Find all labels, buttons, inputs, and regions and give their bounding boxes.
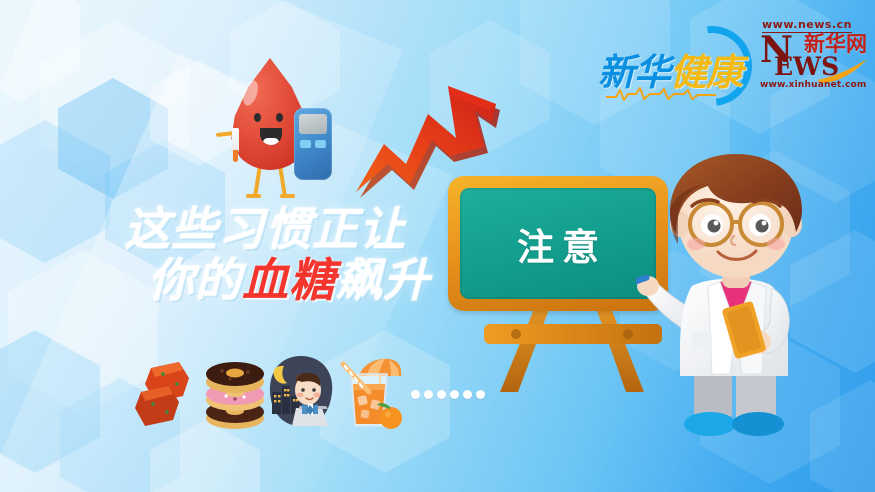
ellipsis-dots [411, 390, 485, 399]
glucose-meter-button-left [300, 140, 311, 148]
xinhuanet-logo[interactable]: www.news.cn N EWS 新华网 www.xinhuanet.com [760, 18, 868, 92]
headline-line-2: 你的血糖飙升 [148, 257, 430, 304]
blackboard-text: 注意 [509, 217, 607, 271]
blackboard-surface: 注意 [460, 188, 656, 299]
test-strip [232, 128, 239, 152]
glucose-meter-icon [294, 108, 332, 180]
mascot-foot-right [280, 194, 295, 198]
headline-line-2-suffix: 飙升 [336, 253, 430, 307]
mascot-foot-left [246, 194, 261, 198]
mascot-eye-left [254, 113, 261, 122]
test-strip-tip [233, 150, 238, 162]
braised-pork-icon [133, 352, 203, 432]
dot [411, 390, 420, 399]
dot [463, 390, 472, 399]
dot [437, 390, 446, 399]
xinhua-chinese-name: 新华网 [804, 34, 867, 55]
donut-stack-icon [200, 352, 270, 432]
sugary-drink-icon [333, 352, 403, 432]
mascot-mouth [260, 128, 282, 145]
dot [450, 390, 459, 399]
headline-highlight-blood-sugar: 血糖 [242, 253, 336, 307]
glucose-meter-screen [299, 114, 327, 134]
headline-line-2-prefix: 你的 [148, 253, 242, 307]
headline-line-1: 这些习惯正让 [124, 206, 430, 253]
glucose-meter-button-right [315, 140, 326, 148]
staying-up-late-icon [266, 352, 336, 432]
blood-drop-character [218, 58, 338, 208]
blackboard-frame: 注意 [448, 176, 668, 311]
cartoon-doctor [636, 136, 851, 446]
dot [424, 390, 433, 399]
headline-line-1-text: 这些习惯正让 [124, 202, 406, 256]
habit-icon-strip [133, 352, 478, 438]
xinhua-health-logo[interactable]: 新华健康 [598, 26, 748, 104]
mascot-eye-right [276, 113, 283, 122]
xinhua-url-bottom: www.xinhuanet.com [760, 80, 867, 90]
heartbeat-line-icon [606, 86, 716, 102]
dot [476, 390, 485, 399]
poster-canvas: 新华健康 www.news.cn N EWS 新华网 www.xinhuanet… [0, 0, 875, 492]
headline-block: 这些习惯正让 你的血糖飙升 [124, 206, 430, 304]
